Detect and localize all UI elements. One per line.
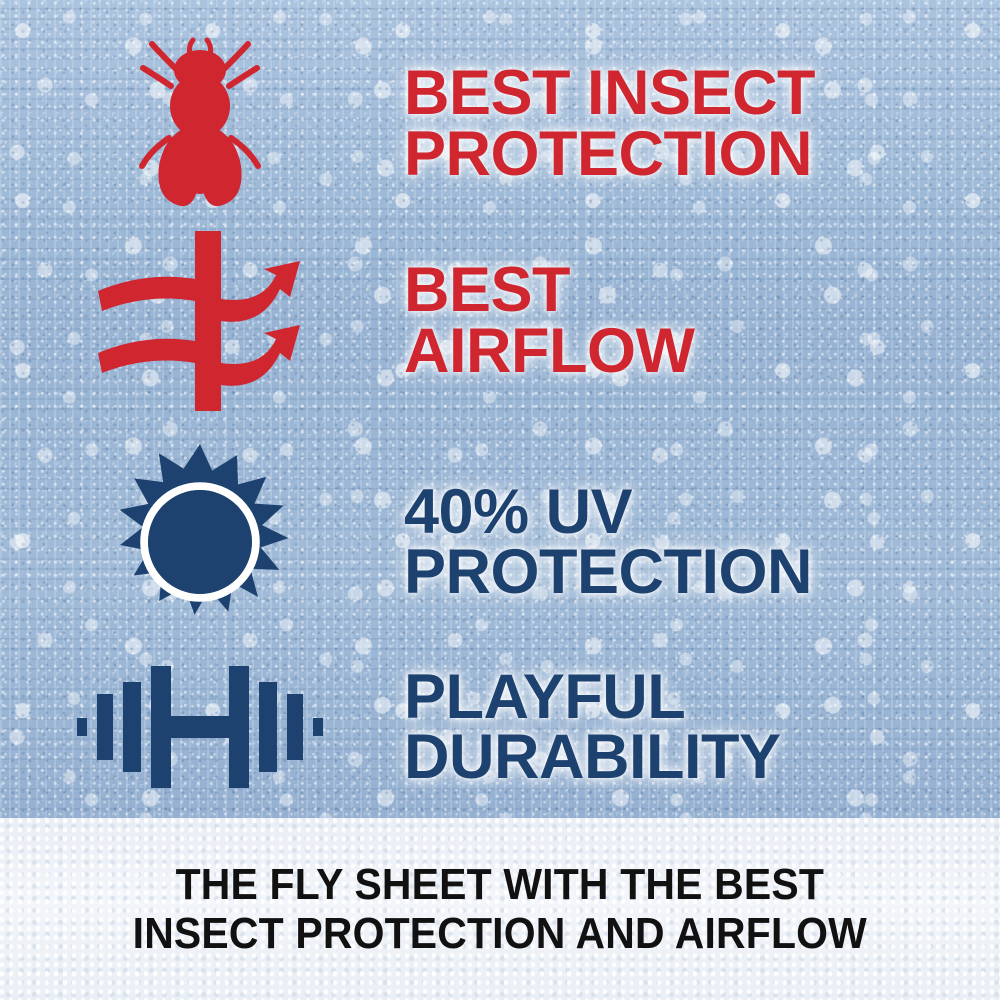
feature-icon-cell [0, 34, 400, 214]
feature-label-uv-protection: 40% UV PROTECTION [404, 482, 1000, 603]
feature-row-best-airflow: BEST AIRFLOW [0, 228, 1000, 413]
feature-text-cell: PLAYFUL DURABILITY [400, 667, 1000, 788]
feature-row-best-insect-protection: BEST INSECT PROTECTION [0, 36, 1000, 211]
caption-band: THE FLY SHEET WITH THE BEST INSECT PROTE… [0, 818, 1000, 1000]
feature-row-playful-durability: PLAYFUL DURABILITY [0, 652, 1000, 802]
caption-headline: THE FLY SHEET WITH THE BEST INSECT PROTE… [133, 860, 867, 959]
airflow-arrows-icon [94, 231, 306, 411]
sun-uv-icon [102, 444, 298, 640]
feature-text-cell: BEST AIRFLOW [400, 260, 1000, 381]
fly-icon [125, 34, 275, 214]
feature-text-cell: BEST INSECT PROTECTION [400, 63, 1000, 184]
feature-icon-cell [0, 664, 400, 790]
feature-label-best-airflow: BEST AIRFLOW [404, 260, 1000, 381]
feature-row-uv-protection: 40% UV PROTECTION [0, 442, 1000, 642]
feature-icon-cell [0, 444, 400, 640]
feature-label-best-insect-protection: BEST INSECT PROTECTION [404, 63, 1000, 184]
feature-label-playful-durability: PLAYFUL DURABILITY [404, 667, 1000, 788]
dumbbell-icon [75, 664, 325, 790]
feature-icon-cell [0, 231, 400, 411]
product-feature-poster: BEST INSECT PROTECTION [0, 0, 1000, 1000]
feature-text-cell: 40% UV PROTECTION [400, 482, 1000, 603]
